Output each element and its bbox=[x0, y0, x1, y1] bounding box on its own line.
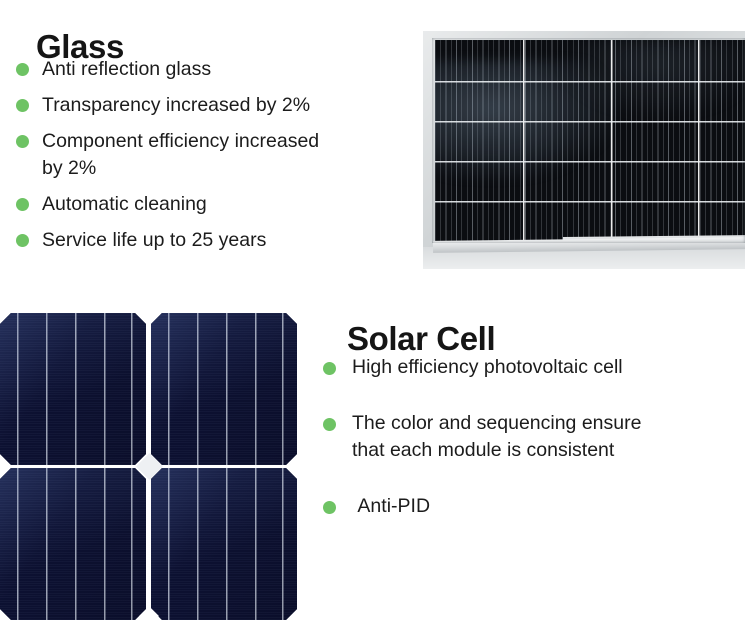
bullet-dot-icon bbox=[323, 418, 336, 431]
solar-cell-tile bbox=[0, 468, 146, 620]
list-item: Transparency increased by 2% bbox=[14, 92, 414, 128]
bullet-dot-icon bbox=[16, 63, 29, 76]
bullet-dot-icon bbox=[16, 198, 29, 211]
bullet-dot-icon bbox=[16, 99, 29, 112]
list-item-label: The color and sequencing ensure that eac… bbox=[352, 410, 740, 464]
list-item: Service life up to 25 years bbox=[14, 227, 414, 263]
cell-sheen bbox=[0, 313, 146, 465]
list-item-label: Anti-PID bbox=[352, 493, 740, 520]
solar-module-photo bbox=[423, 31, 745, 269]
list-item-label: Transparency increased by 2% bbox=[42, 92, 414, 119]
list-item-label: Service life up to 25 years bbox=[42, 227, 414, 254]
list-item-label: Component efficiency increased by 2% bbox=[42, 128, 414, 182]
module-frame-shadow bbox=[432, 38, 745, 243]
list-item: High efficiency photovoltaic cell bbox=[320, 354, 740, 410]
bullet-dot-icon bbox=[323, 362, 336, 375]
cell-sheen bbox=[151, 468, 297, 620]
bullet-dot-icon bbox=[16, 135, 29, 148]
glass-feature-list: Anti reflection glass Transparency incre… bbox=[14, 56, 414, 263]
list-item: Anti reflection glass bbox=[14, 56, 414, 92]
solar-cell-tile bbox=[0, 313, 146, 465]
solar-cell-section-heading: Solar Cell bbox=[347, 322, 495, 355]
infographic-canvas: Glass Anti reflection glass Transparency… bbox=[0, 0, 745, 623]
solar-cell-tile bbox=[151, 313, 297, 465]
list-item: Anti-PID bbox=[320, 493, 740, 549]
list-item-label: Automatic cleaning bbox=[42, 191, 414, 218]
cell-sheen bbox=[0, 468, 146, 620]
monocrystalline-cells-photo bbox=[0, 310, 299, 623]
list-item: Automatic cleaning bbox=[14, 191, 414, 227]
list-item-label: High efficiency photovoltaic cell bbox=[352, 354, 740, 381]
bullet-dot-icon bbox=[16, 234, 29, 247]
cell-sheen bbox=[151, 313, 297, 465]
solar-cell-tile bbox=[151, 468, 297, 620]
list-item: Component efficiency increased by 2% bbox=[14, 128, 414, 191]
list-item: The color and sequencing ensure that eac… bbox=[320, 410, 740, 493]
bullet-dot-icon bbox=[323, 501, 336, 514]
list-item-label: Anti reflection glass bbox=[42, 56, 414, 83]
solar-cell-feature-list: High efficiency photovoltaic cell The co… bbox=[320, 354, 740, 549]
